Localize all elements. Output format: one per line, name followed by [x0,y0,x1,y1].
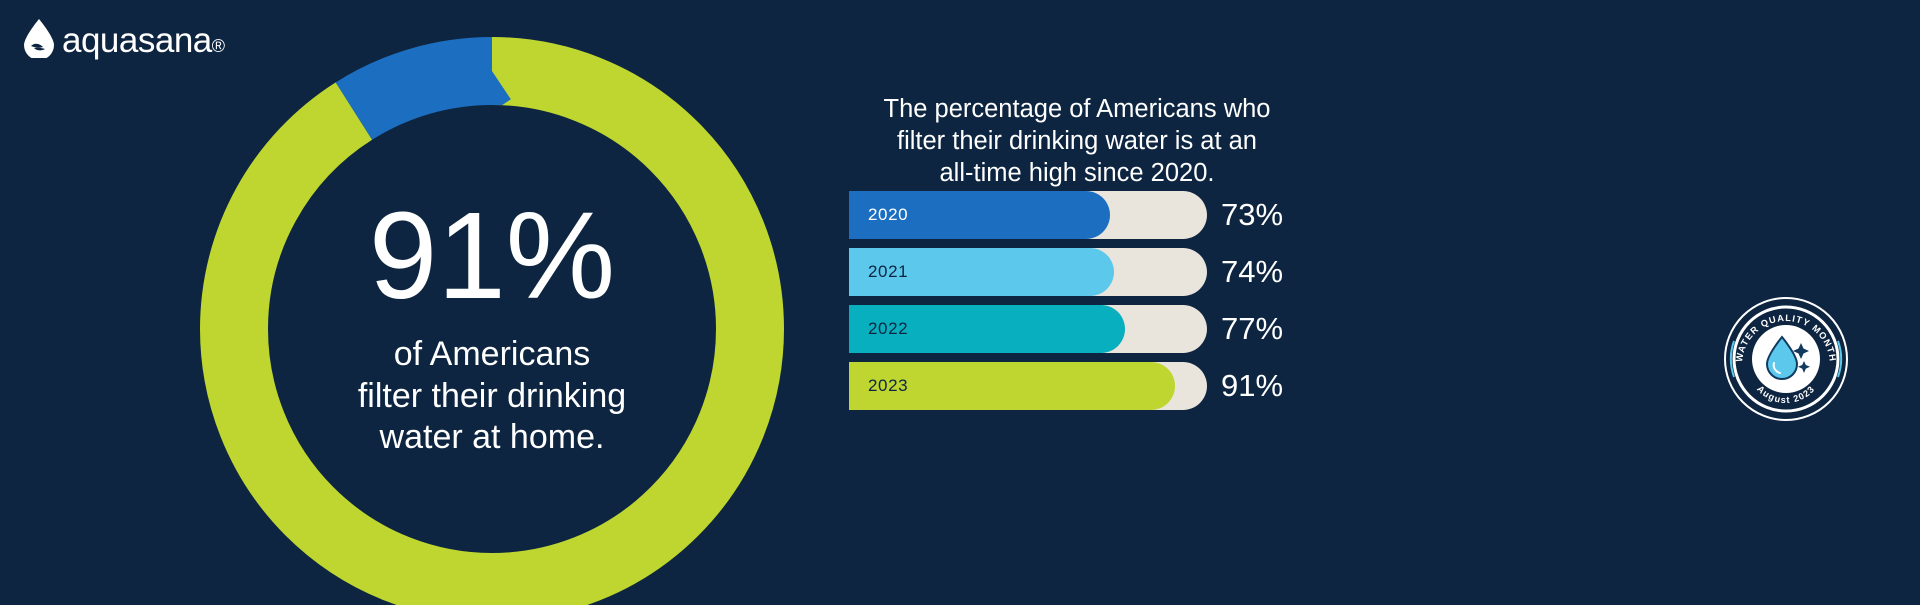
aquasana-logo: aquasana® [22,18,225,58]
headline-line-3: all-time high since 2020. [862,157,1292,189]
headline-line-1: The percentage of Americans who [862,93,1292,125]
bar-row: 202174% [849,248,1289,296]
water-quality-month-seal: WATER QUALITY MONTH August 2023 [1722,295,1850,423]
headline-line-2: filter their drinking water is at an [862,125,1292,157]
bar-year-label: 2021 [868,248,908,296]
bar-row: 202391% [849,362,1289,410]
donut-chart-svg [196,33,788,605]
bar-year-label: 2022 [868,305,908,353]
bar-value-label: 73% [1221,191,1283,239]
bar-year-label: 2023 [868,362,908,410]
bar-row: 202277% [849,305,1289,353]
bar-chart: 202073%202174%202277%202391% [849,191,1289,419]
donut-segment-filter [234,71,750,587]
bar-year-label: 2020 [868,191,908,239]
bar-row: 202073% [849,191,1289,239]
headline: The percentage of Americans who filter t… [862,93,1292,189]
water-droplet-icon [22,18,56,58]
infographic-canvas: aquasana® 91% of Americans filter their … [0,0,1920,605]
bar-value-label: 74% [1221,248,1283,296]
bar-value-label: 77% [1221,305,1283,353]
donut-chart: 91% of Americans filter their drinking w… [196,33,788,605]
bar-value-label: 91% [1221,362,1283,410]
